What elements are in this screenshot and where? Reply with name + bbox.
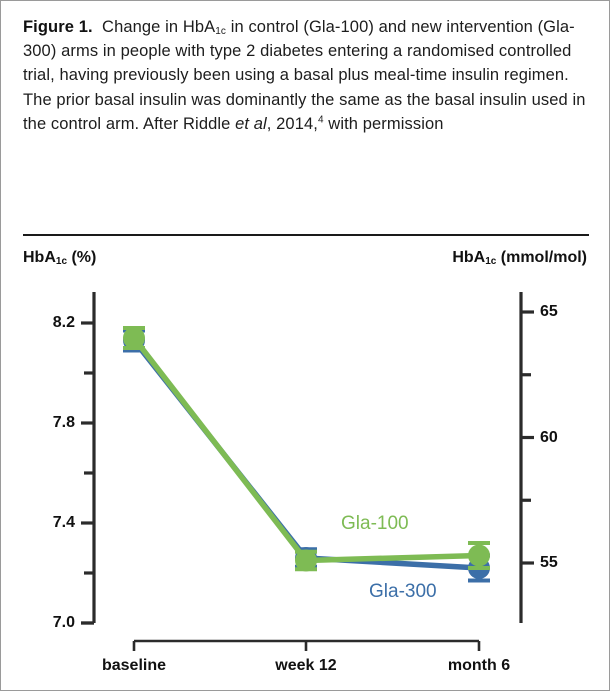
chart-axes xyxy=(81,292,534,651)
series-line xyxy=(134,338,479,561)
line-chart-plot xyxy=(1,1,610,691)
right-axis-tick-label: 60 xyxy=(540,429,558,447)
left-axis-tick-label: 7.0 xyxy=(29,614,75,632)
left-axis-tick-label: 7.4 xyxy=(29,514,75,532)
x-axis-tick-label: baseline xyxy=(102,657,166,675)
left-axis-tick-label: 7.8 xyxy=(29,414,75,432)
figure-panel: Figure 1. Change in HbA1c in control (Gl… xyxy=(0,0,610,691)
left-axis-tick-label: 8.2 xyxy=(29,314,75,332)
series-label-gla-300: Gla-300 xyxy=(369,581,437,603)
data-point-marker xyxy=(295,550,317,572)
data-point-marker xyxy=(123,327,145,349)
x-axis-tick-label: month 6 xyxy=(448,657,510,675)
chart-series-group xyxy=(123,327,490,581)
right-axis-tick-label: 65 xyxy=(540,303,558,321)
series-label-gla-100: Gla-100 xyxy=(341,513,409,535)
series-gla-100 xyxy=(123,327,490,572)
series-line xyxy=(134,341,479,569)
data-point-marker xyxy=(468,545,490,567)
right-axis-tick-label: 55 xyxy=(540,554,558,572)
series-gla-300 xyxy=(123,330,490,581)
x-axis-tick-label: week 12 xyxy=(275,657,336,675)
